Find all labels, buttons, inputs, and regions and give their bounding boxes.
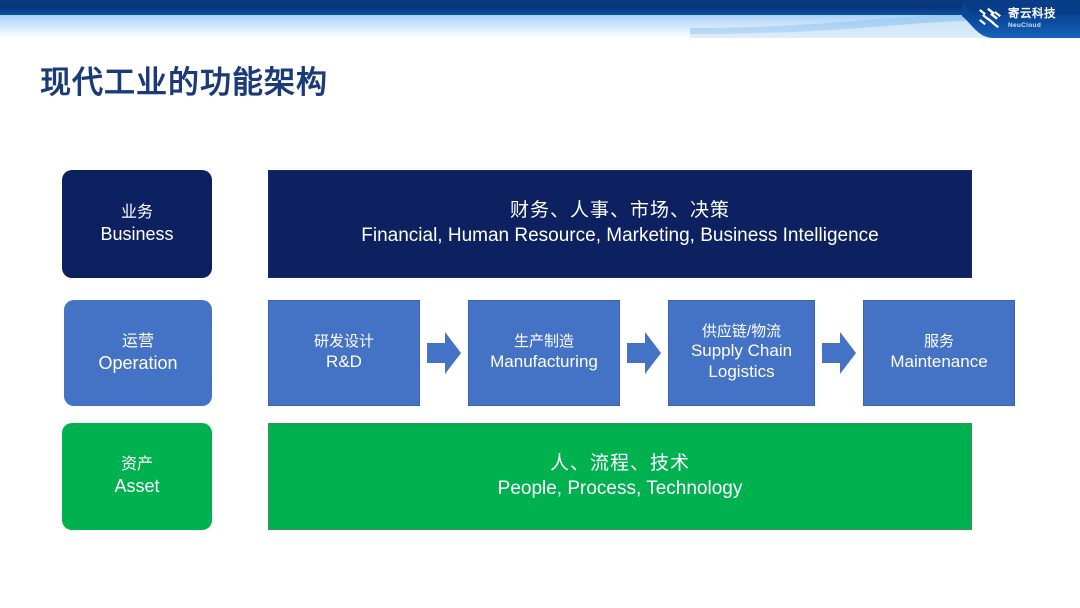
right-block-arrow-icon-3 <box>815 325 863 381</box>
process-box-rnd-cn: 研发设计 <box>314 333 374 351</box>
process-box-maintenance[interactable]: 服务 Maintenance <box>863 300 1015 406</box>
process-box-supply-chain-en2: Logistics <box>708 362 774 383</box>
process-box-supply-chain-cn: 供应链/物流 <box>702 323 781 341</box>
process-box-supply-chain[interactable]: 供应链/物流 Supply Chain Logistics <box>668 300 815 406</box>
panel-asset[interactable]: 人、流程、技术 People, Process, Technology <box>268 423 972 530</box>
tier-label-business-en: Business <box>100 223 173 246</box>
process-box-maintenance-cn: 服务 <box>924 333 954 351</box>
process-box-rnd-en: R&D <box>326 352 362 373</box>
panel-business-en: Financial, Human Resource, Marketing, Bu… <box>361 224 878 249</box>
operation-process-chain: 研发设计 R&D 生产制造 Manufacturing 供应链/物流 Suppl… <box>268 300 972 406</box>
panel-asset-cn: 人、流程、技术 <box>550 452 690 477</box>
tier-label-business[interactable]: 业务 Business <box>62 170 212 278</box>
right-block-arrow-icon-2 <box>620 325 668 381</box>
diagram-row-operation: 运营 Operation 研发设计 R&D 生产制造 Manufacturing <box>0 300 1080 406</box>
tier-label-business-cn: 业务 <box>121 203 153 223</box>
process-box-supply-chain-en: Supply Chain <box>691 341 792 362</box>
panel-business[interactable]: 财务、人事、市场、决策 Financial, Human Resource, M… <box>268 170 972 278</box>
right-block-arrow-icon-1 <box>420 325 468 381</box>
tier-label-operation-cn: 运营 <box>122 332 154 352</box>
brand-logo-text: 寄云科技 NeuCloud <box>1008 9 1056 29</box>
brand-name-en: NeuCloud <box>1008 23 1056 30</box>
functional-architecture-diagram: 业务 Business 财务、人事、市场、决策 Financial, Human… <box>0 170 1080 535</box>
page-title: 现代工业的功能架构 <box>40 57 328 102</box>
diagram-row-business: 业务 Business 财务、人事、市场、决策 Financial, Human… <box>0 170 1080 278</box>
tier-label-asset[interactable]: 资产 Asset <box>62 423 212 530</box>
tier-label-asset-en: Asset <box>114 475 159 498</box>
brand-logo[interactable]: 寄云科技 NeuCloud <box>978 4 1074 34</box>
process-box-rnd[interactable]: 研发设计 R&D <box>268 300 420 406</box>
process-box-manufacturing-en: Manufacturing <box>490 352 598 373</box>
process-box-manufacturing[interactable]: 生产制造 Manufacturing <box>468 300 620 406</box>
tier-label-operation-en: Operation <box>98 352 177 375</box>
slide-header: 寄云科技 NeuCloud <box>0 0 1080 38</box>
tier-label-operation[interactable]: 运营 Operation <box>64 300 212 406</box>
process-box-maintenance-en: Maintenance <box>890 352 987 373</box>
neucloud-diagonal-bars-icon <box>978 8 1004 30</box>
process-box-manufacturing-cn: 生产制造 <box>514 333 574 351</box>
diagram-row-asset: 资产 Asset 人、流程、技术 People, Process, Techno… <box>0 423 1080 530</box>
panel-asset-en: People, Process, Technology <box>498 477 743 502</box>
brand-name-cn: 寄云科技 <box>1008 9 1056 21</box>
panel-business-cn: 财务、人事、市场、决策 <box>510 199 730 224</box>
tier-label-asset-cn: 资产 <box>121 455 153 475</box>
